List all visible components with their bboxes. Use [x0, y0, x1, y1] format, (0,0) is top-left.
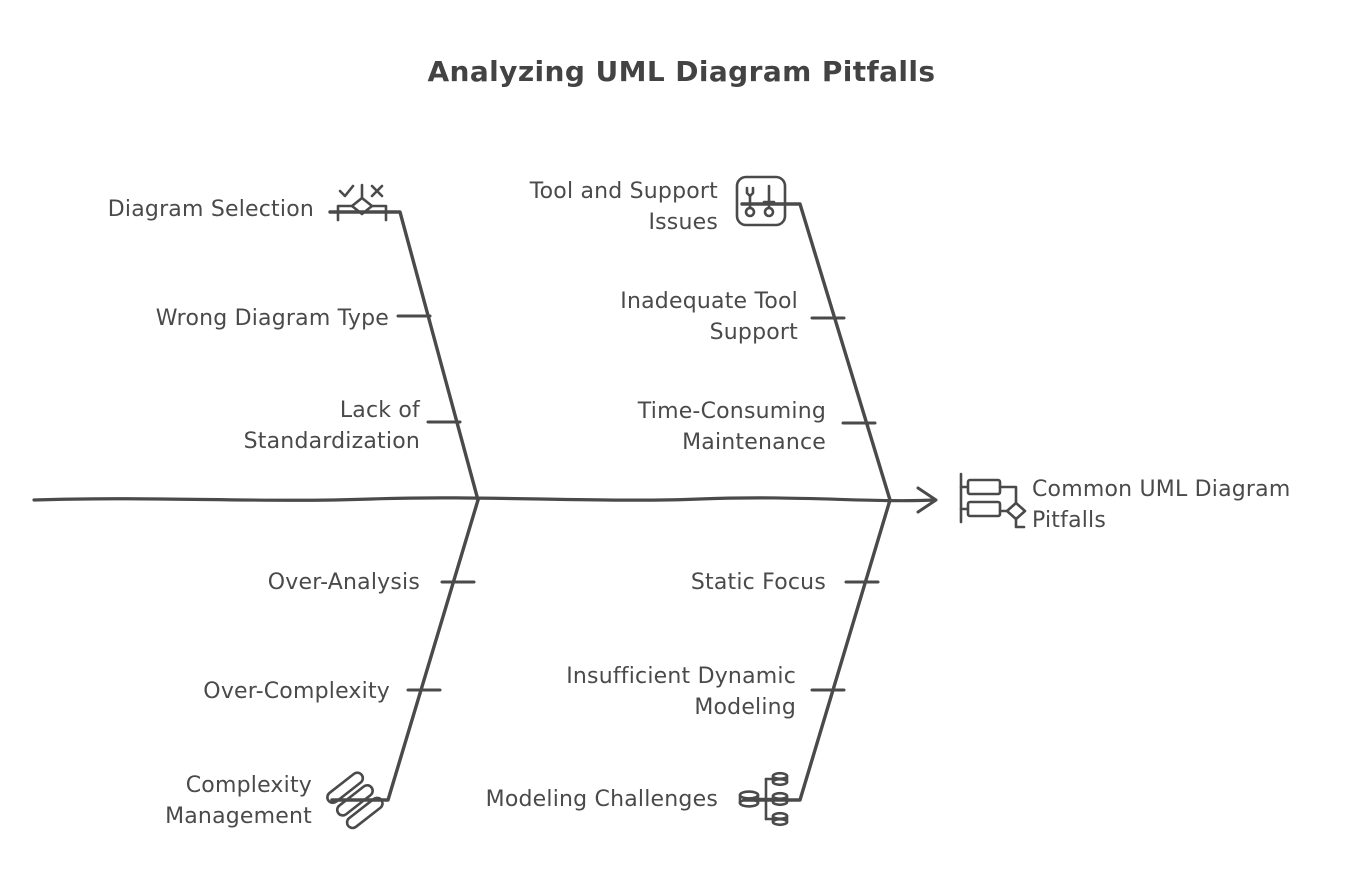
- category-label-modeling-challenges: Modeling Challenges: [440, 784, 718, 815]
- category-label-diagram-selection: Diagram Selection: [86, 194, 314, 225]
- fishbone-diagram: Analyzing UML Diagram Pitfalls: [0, 0, 1363, 895]
- database-distribution-icon: [740, 773, 787, 825]
- cause-label-lack-standardization: Lack of Standardization: [158, 395, 420, 457]
- spine-line: [34, 498, 935, 501]
- branch-line-modeling-challenges: [744, 500, 890, 800]
- category-label-tool-support-issues: Tool and Support Issues: [482, 176, 718, 238]
- cause-label-insufficient-dynamic-modeling: Insufficient Dynamic Modeling: [510, 661, 796, 723]
- effect-label: Common UML Diagram Pitfalls: [1032, 474, 1342, 536]
- branch-line-complexity-management: [332, 500, 478, 800]
- cause-label-over-complexity: Over-Complexity: [158, 676, 390, 707]
- cause-label-inadequate-tool-support: Inadequate Tool Support: [540, 286, 798, 348]
- tools-wrench-screwdriver-icon: [737, 177, 785, 225]
- cause-label-time-consuming-maintenance: Time-Consuming Maintenance: [570, 396, 826, 458]
- cause-label-wrong-diagram-type: Wrong Diagram Type: [108, 303, 389, 334]
- cause-label-static-focus: Static Focus: [610, 567, 826, 598]
- cause-label-over-analysis: Over-Analysis: [190, 567, 420, 598]
- category-label-complexity-management: Complexity Management: [110, 770, 312, 832]
- uml-class-diagram-icon: [961, 474, 1025, 527]
- decision-diamond-check-cross-icon: [338, 185, 386, 220]
